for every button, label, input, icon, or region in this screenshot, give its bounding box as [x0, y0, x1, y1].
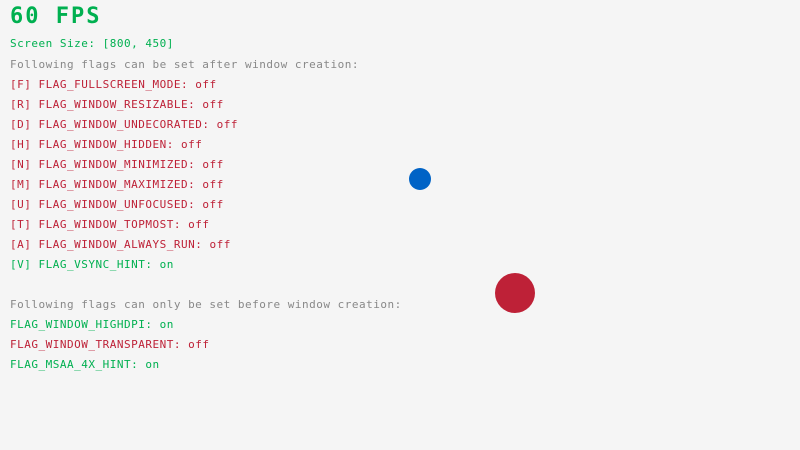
flag-shortcut-key: [D]: [10, 118, 39, 131]
flag-name: FLAG_VSYNC_HINT:: [39, 258, 160, 271]
flag-state-value: off: [188, 218, 209, 231]
flag-name: FLAG_WINDOW_HIDDEN:: [39, 138, 181, 151]
flag-state-value: off: [202, 198, 223, 211]
flag-shortcut-key: [H]: [10, 138, 39, 151]
flag-shortcut-key: [R]: [10, 98, 39, 111]
flag-row-flag-window-maximized[interactable]: [M] FLAG_WINDOW_MAXIMIZED: off: [10, 179, 224, 190]
flag-state-value: on: [160, 258, 174, 271]
flag-name: FLAG_WINDOW_MINIMIZED:: [39, 158, 203, 171]
flag-row-flag-window-highdpi[interactable]: FLAG_WINDOW_HIGHDPI: on: [10, 319, 174, 330]
flag-state-value: on: [145, 358, 159, 371]
flag-state-value: off: [188, 338, 209, 351]
flag-state-value: on: [160, 318, 174, 331]
flag-row-flag-window-undecorated[interactable]: [D] FLAG_WINDOW_UNDECORATED: off: [10, 119, 238, 130]
flag-state-value: off: [209, 238, 230, 251]
flag-state-value: off: [217, 118, 238, 131]
flag-row-flag-window-always-run[interactable]: [A] FLAG_WINDOW_ALWAYS_RUN: off: [10, 239, 231, 250]
flag-shortcut-key: [V]: [10, 258, 39, 271]
flag-shortcut-key: [A]: [10, 238, 39, 251]
flag-row-flag-window-transparent[interactable]: FLAG_WINDOW_TRANSPARENT: off: [10, 339, 209, 350]
flag-name: FLAG_WINDOW_UNDECORATED:: [39, 118, 217, 131]
flag-name: FLAG_WINDOW_TRANSPARENT:: [10, 338, 188, 351]
flag-shortcut-key: [N]: [10, 158, 39, 171]
flag-state-value: off: [202, 178, 223, 191]
flag-name: FLAG_WINDOW_HIGHDPI:: [10, 318, 160, 331]
flag-state-value: off: [181, 138, 202, 151]
flag-row-flag-window-topmost[interactable]: [T] FLAG_WINDOW_TOPMOST: off: [10, 219, 209, 230]
flag-shortcut-key: [F]: [10, 78, 39, 91]
flag-shortcut-key: [U]: [10, 198, 39, 211]
flag-row-flag-window-unfocused[interactable]: [U] FLAG_WINDOW_UNFOCUSED: off: [10, 199, 224, 210]
flag-state-value: off: [202, 158, 223, 171]
raylib-window-canvas[interactable]: 60 FPS Screen Size: [800, 450] Following…: [0, 0, 800, 450]
flag-state-value: off: [195, 78, 216, 91]
flag-shortcut-key: [T]: [10, 218, 39, 231]
flag-name: FLAG_WINDOW_TOPMOST:: [39, 218, 189, 231]
flag-name: FLAG_MSAA_4X_HINT:: [10, 358, 145, 371]
fps-counter: 60 FPS: [10, 6, 101, 28]
flag-row-flag-fullscreen-mode[interactable]: [F] FLAG_FULLSCREEN_MODE: off: [10, 79, 217, 90]
flag-name: FLAG_WINDOW_RESIZABLE:: [39, 98, 203, 111]
flag-shortcut-key: [M]: [10, 178, 39, 191]
screen-size-label: Screen Size: [800, 450]: [10, 38, 174, 49]
flag-state-value: off: [202, 98, 223, 111]
blue-circle: [409, 168, 431, 190]
flag-row-flag-msaa-4x-hint[interactable]: FLAG_MSAA_4X_HINT: on: [10, 359, 160, 370]
flag-name: FLAG_FULLSCREEN_MODE:: [39, 78, 196, 91]
flag-row-flag-window-hidden[interactable]: [H] FLAG_WINDOW_HIDDEN: off: [10, 139, 202, 150]
flag-row-flag-window-minimized[interactable]: [N] FLAG_WINDOW_MINIMIZED: off: [10, 159, 224, 170]
flag-name: FLAG_WINDOW_MAXIMIZED:: [39, 178, 203, 191]
flag-name: FLAG_WINDOW_UNFOCUSED:: [39, 198, 203, 211]
section-header-after-creation: Following flags can be set after window …: [10, 59, 359, 70]
flag-row-flag-vsync-hint[interactable]: [V] FLAG_VSYNC_HINT: on: [10, 259, 174, 270]
flag-row-flag-window-resizable[interactable]: [R] FLAG_WINDOW_RESIZABLE: off: [10, 99, 224, 110]
flag-name: FLAG_WINDOW_ALWAYS_RUN:: [39, 238, 210, 251]
section-header-before-creation: Following flags can only be set before w…: [10, 299, 402, 310]
red-circle: [495, 273, 535, 313]
